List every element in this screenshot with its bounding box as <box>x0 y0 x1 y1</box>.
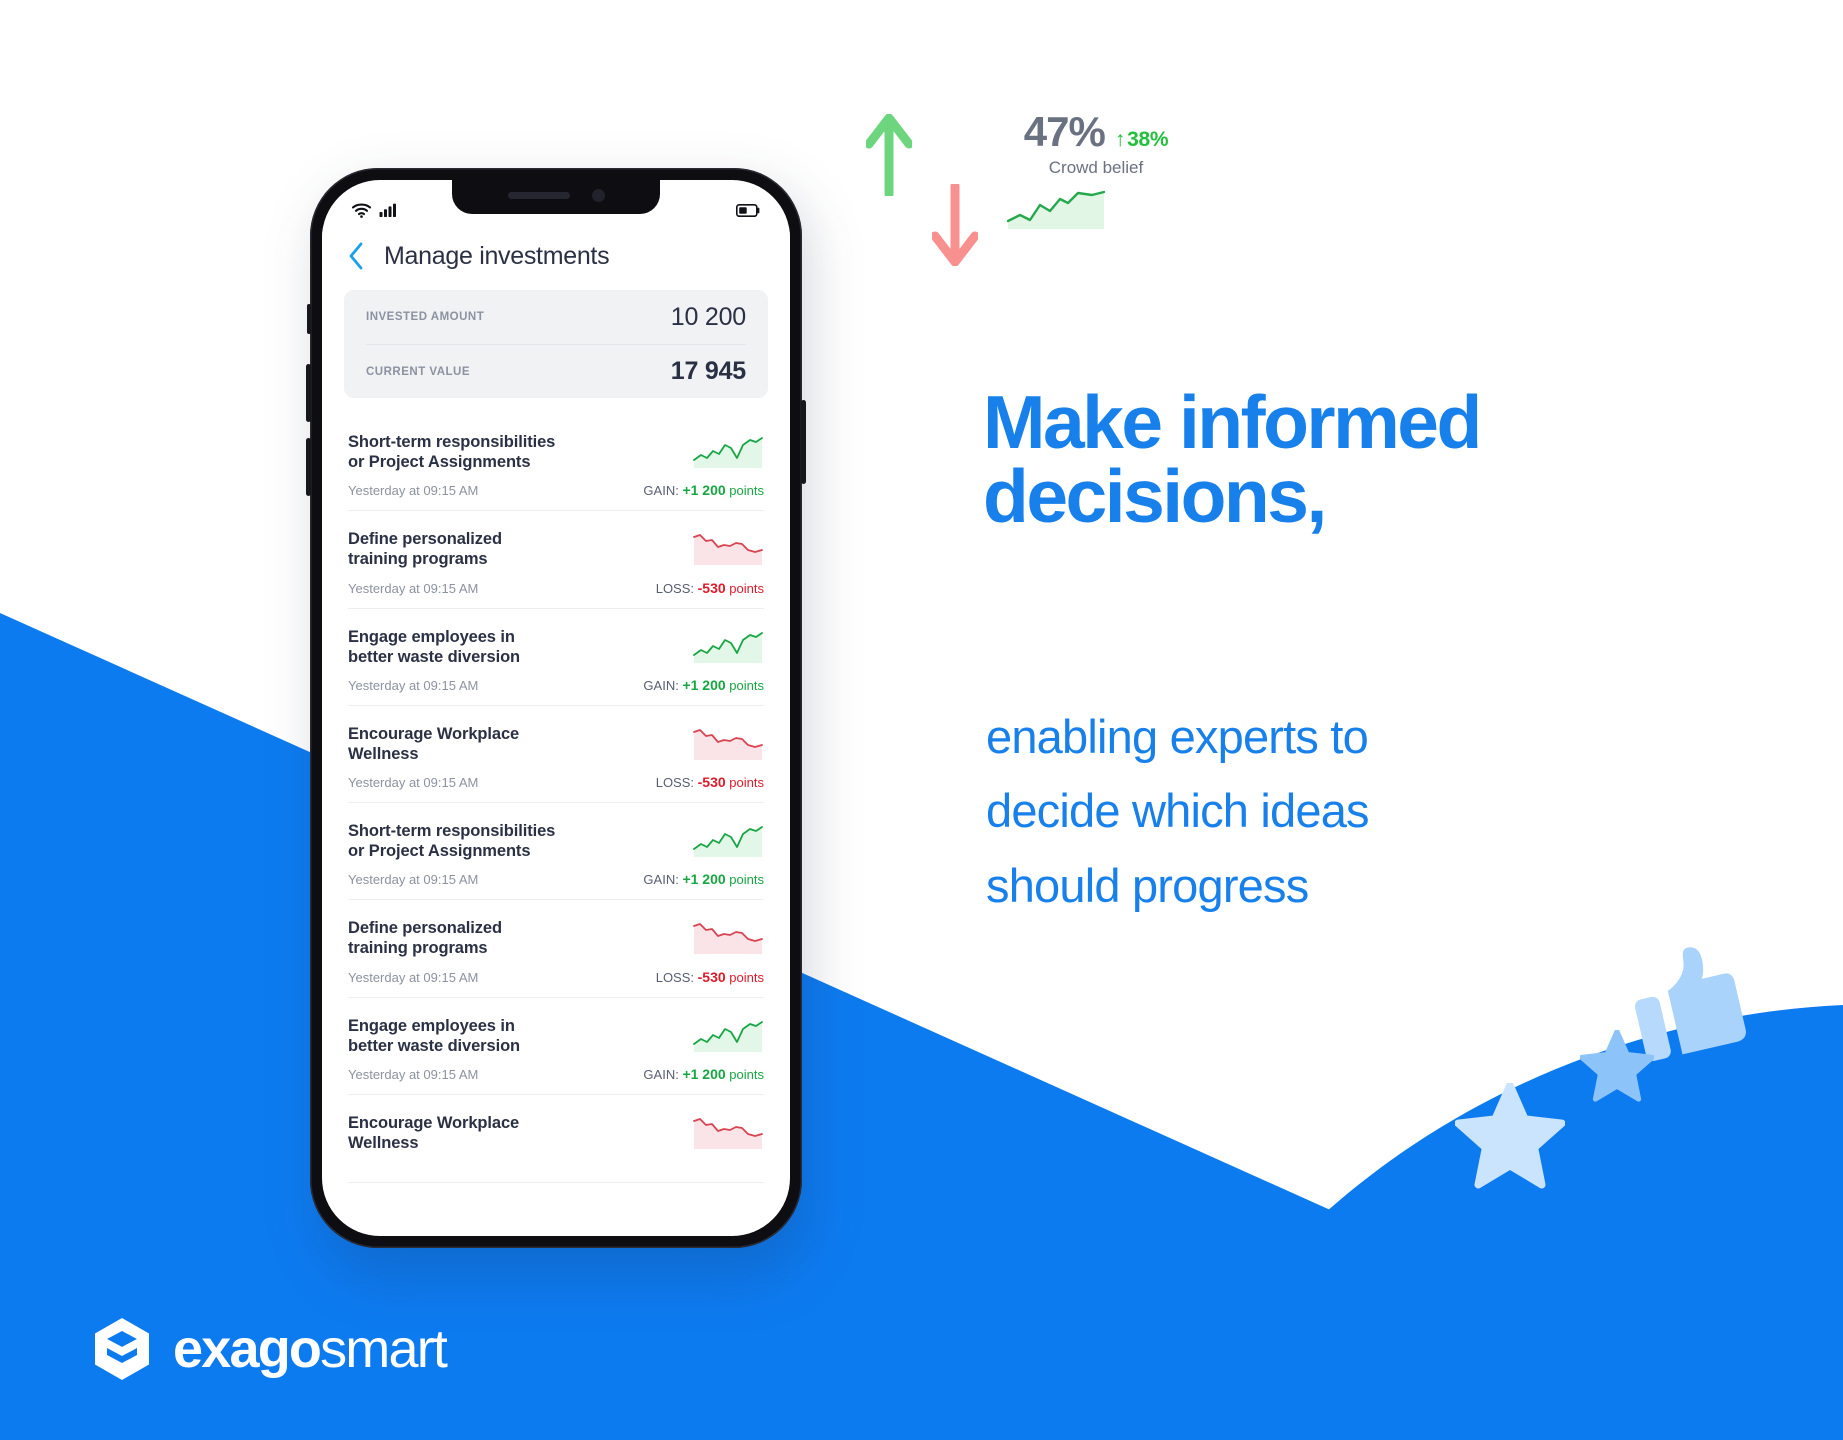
sparkline-down <box>692 1115 764 1149</box>
delta-label: LOSS: <box>656 775 694 790</box>
investment-list-item[interactable]: Short-term responsibilities or Project A… <box>348 414 764 511</box>
investment-meta: Yesterday at 09:15 AMGAIN: +1 200 points <box>348 871 764 887</box>
arrow-down-icon <box>932 184 978 266</box>
delta-value: +1 200 <box>682 1066 725 1082</box>
arrow-up-icon <box>866 114 912 196</box>
investment-meta: Yesterday at 09:15 AMLOSS: -530 points <box>348 774 764 790</box>
delta-unit: points <box>729 775 764 790</box>
current-value-value: 17 945 <box>671 357 746 386</box>
crowd-belief-caption: Crowd belief <box>996 158 1196 178</box>
sparkline-up <box>692 823 764 857</box>
investment-title: Short-term responsibilities or Project A… <box>348 821 603 861</box>
logo-wordmark: exagosmart <box>173 1318 446 1380</box>
invested-amount-value: 10 200 <box>671 303 746 332</box>
sparkline-up <box>692 1018 764 1052</box>
delta-unit: points <box>729 970 764 985</box>
invested-amount-label: INVESTED AMOUNT <box>366 311 484 323</box>
investment-list-item[interactable]: Define personalized training programsYes… <box>348 511 764 608</box>
delta-unit: points <box>729 872 764 887</box>
crowd-belief-line: 47% ↑38% <box>996 108 1196 156</box>
phone-volume-up-button[interactable] <box>306 364 311 422</box>
investment-list-item[interactable]: Engage employees in better waste diversi… <box>348 609 764 706</box>
promo-banner: 47% ↑38% Crowd belief Make informed deci… <box>0 0 1843 1440</box>
wifi-icon <box>352 203 371 218</box>
delta-label: GAIN: <box>643 678 678 693</box>
investment-meta: Yesterday at 09:15 AMLOSS: -530 points <box>348 969 764 985</box>
sparkline-up <box>692 629 764 663</box>
subheadline: enabling experts to decide which ideas s… <box>986 700 1626 923</box>
investment-title: Define personalized training programs <box>348 529 603 569</box>
investment-title: Encourage Workplace Wellness <box>348 724 603 764</box>
star-icon <box>1580 1030 1654 1102</box>
investment-date: Yesterday at 09:15 AM <box>348 483 478 498</box>
investment-meta: Yesterday at 09:15 AMGAIN: +1 200 points <box>348 482 764 498</box>
crowd-belief-sparkline <box>1006 186 1106 232</box>
sparkline-down <box>692 531 764 565</box>
investment-date: Yesterday at 09:15 AM <box>348 970 478 985</box>
crowd-belief-change-value: 38% <box>1127 128 1168 152</box>
crowd-belief-text: 47% ↑38% Crowd belief <box>996 108 1196 178</box>
logo-word-smart: smart <box>320 1318 446 1380</box>
investment-meta: Yesterday at 09:15 AMLOSS: -530 points <box>348 580 764 596</box>
delta-label: LOSS: <box>656 581 694 596</box>
investment-loss-badge: LOSS: -530 points <box>656 774 764 790</box>
crowd-belief-percent: 47% <box>1024 108 1105 156</box>
phone-notch <box>452 180 660 214</box>
phone-mute-switch[interactable] <box>307 304 311 334</box>
investment-list-item[interactable]: Define personalized training programsYes… <box>348 900 764 997</box>
battery-icon <box>736 204 760 217</box>
investment-date: Yesterday at 09:15 AM <box>348 678 478 693</box>
phone-volume-down-button[interactable] <box>306 438 311 496</box>
delta-unit: points <box>729 1067 764 1082</box>
investment-gain-badge: GAIN: +1 200 points <box>643 871 764 887</box>
investment-gain-badge: GAIN: +1 200 points <box>643 1066 764 1082</box>
logo-word-exago: exago <box>173 1318 320 1380</box>
delta-label: GAIN: <box>643 1067 678 1082</box>
investment-summary-card: INVESTED AMOUNT 10 200 CURRENT VALUE 17 … <box>344 290 768 398</box>
delta-unit: points <box>729 483 764 498</box>
investment-list-item[interactable]: Short-term responsibilities or Project A… <box>348 803 764 900</box>
exago-logo-mark <box>93 1317 151 1381</box>
investment-list-item[interactable]: Encourage Workplace Wellness <box>348 1095 764 1183</box>
investment-title: Engage employees in better waste diversi… <box>348 627 603 667</box>
delta-value: -530 <box>698 774 726 790</box>
summary-row-invested: INVESTED AMOUNT 10 200 <box>366 290 746 344</box>
exago-smart-logo: exagosmart <box>93 1317 446 1381</box>
status-bar-right <box>736 204 760 217</box>
page-title: Manage investments <box>384 242 609 271</box>
sparkline-down <box>692 920 764 954</box>
delta-value: +1 200 <box>682 677 725 693</box>
investment-meta: Yesterday at 09:15 AMGAIN: +1 200 points <box>348 1066 764 1082</box>
delta-value: +1 200 <box>682 482 725 498</box>
investment-title: Short-term responsibilities or Project A… <box>348 432 603 472</box>
investment-date: Yesterday at 09:15 AM <box>348 1067 478 1082</box>
investment-gain-badge: GAIN: +1 200 points <box>643 677 764 693</box>
investment-date: Yesterday at 09:15 AM <box>348 872 478 887</box>
crowd-belief-change: ↑38% <box>1115 128 1168 152</box>
delta-value: +1 200 <box>682 871 725 887</box>
phone-power-button[interactable] <box>801 400 806 484</box>
sparkline-down <box>692 726 764 760</box>
star-icon <box>1455 1083 1565 1189</box>
investment-list-item[interactable]: Encourage Workplace WellnessYesterday at… <box>348 706 764 803</box>
investment-list[interactable]: Short-term responsibilities or Project A… <box>322 414 790 1236</box>
delta-label: GAIN: <box>643 872 678 887</box>
investment-loss-badge: LOSS: -530 points <box>656 969 764 985</box>
delta-unit: points <box>729 581 764 596</box>
delta-value: -530 <box>698 580 726 596</box>
phone-frame: Manage investments INVESTED AMOUNT 10 20… <box>310 168 802 1248</box>
phone-screen: Manage investments INVESTED AMOUNT 10 20… <box>322 180 790 1236</box>
chevron-left-icon[interactable] <box>348 242 364 270</box>
current-value-label: CURRENT VALUE <box>366 366 470 378</box>
delta-value: -530 <box>698 969 726 985</box>
app-header: Manage investments <box>322 228 790 284</box>
investment-title: Engage employees in better waste diversi… <box>348 1016 603 1056</box>
investment-meta: Yesterday at 09:15 AMGAIN: +1 200 points <box>348 677 764 693</box>
delta-unit: points <box>729 678 764 693</box>
earpiece-speaker <box>508 192 570 199</box>
investment-title: Define personalized training programs <box>348 918 603 958</box>
cellular-signal-icon <box>379 203 396 217</box>
investment-gain-badge: GAIN: +1 200 points <box>643 482 764 498</box>
investment-date: Yesterday at 09:15 AM <box>348 775 478 790</box>
investment-loss-badge: LOSS: -530 points <box>656 580 764 596</box>
headline: Make informed decisions, <box>983 386 1683 533</box>
delta-label: GAIN: <box>643 483 678 498</box>
investment-title: Encourage Workplace Wellness <box>348 1113 603 1153</box>
investment-list-item[interactable]: Engage employees in better waste diversi… <box>348 998 764 1095</box>
sparkline-up <box>692 434 764 468</box>
status-bar-left <box>352 203 396 218</box>
arrow-up-glyph: ↑ <box>1115 128 1125 152</box>
summary-row-current: CURRENT VALUE 17 945 <box>366 344 746 398</box>
delta-label: LOSS: <box>656 970 694 985</box>
phone-mockup: Manage investments INVESTED AMOUNT 10 20… <box>310 168 818 1280</box>
investment-date: Yesterday at 09:15 AM <box>348 581 478 596</box>
front-camera <box>592 189 605 202</box>
